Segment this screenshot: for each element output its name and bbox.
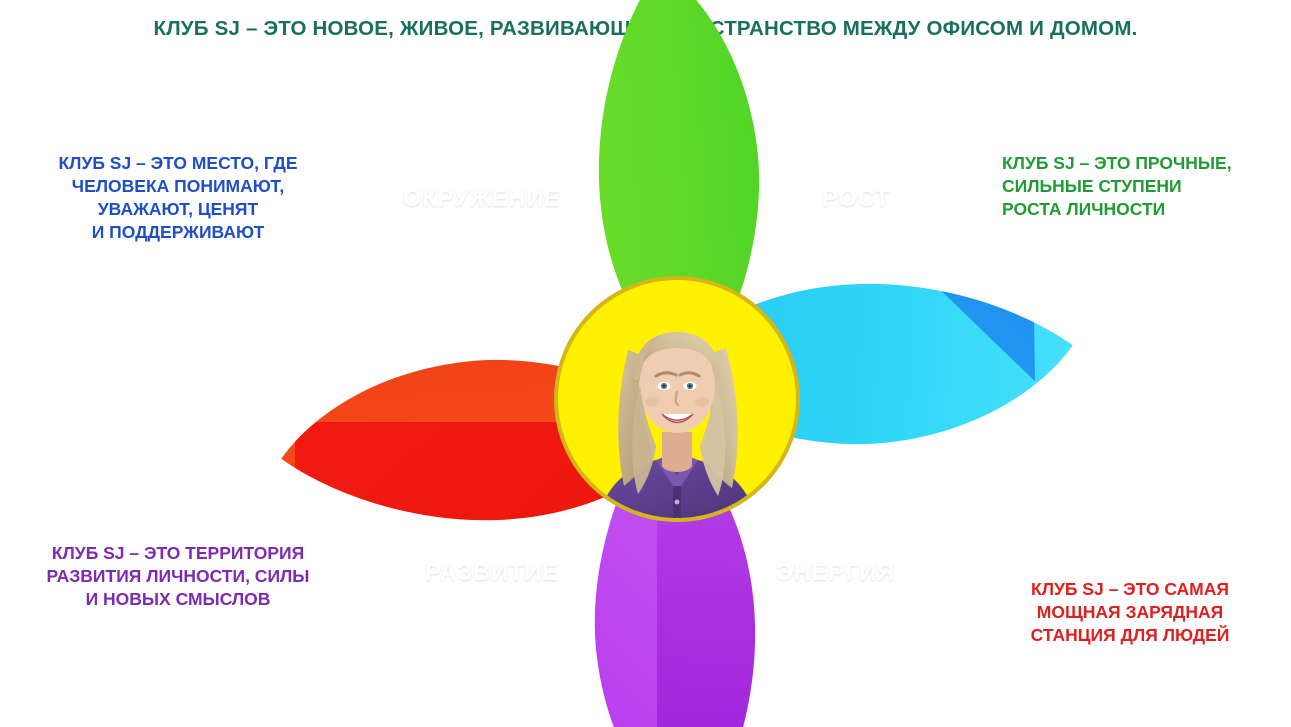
note-development: КЛУБ SJ – ЭТО ТЕРРИТОРИЯ РАЗВИТИЯ ЛИЧНОС… <box>18 542 338 611</box>
portrait-photo <box>584 280 770 522</box>
note-energy: КЛУБ SJ – ЭТО САМАЯ МОЩНАЯ ЗАРЯДНАЯ СТАН… <box>980 578 1280 647</box>
center-medallion <box>554 276 800 522</box>
note-environment-line: КЛУБ SJ – ЭТО МЕСТО, ГДЕ <box>18 152 338 175</box>
note-development-line: РАЗВИТИЯ ЛИЧНОСТИ, СИЛЫ <box>18 565 338 588</box>
note-energy-line: КЛУБ SJ – ЭТО САМАЯ <box>980 578 1280 601</box>
note-environment: КЛУБ SJ – ЭТО МЕСТО, ГДЕ ЧЕЛОВЕКА ПОНИМА… <box>18 152 338 244</box>
note-environment-line: УВАЖАЮТ, ЦЕНЯТ <box>18 198 338 221</box>
note-development-line: КЛУБ SJ – ЭТО ТЕРРИТОРИЯ <box>18 542 338 565</box>
note-energy-line: МОЩНАЯ ЗАРЯДНАЯ <box>980 601 1280 624</box>
note-environment-line: ЧЕЛОВЕКА ПОНИМАЮТ, <box>18 175 338 198</box>
note-development-line: И НОВЫХ СМЫСЛОВ <box>18 588 338 611</box>
note-environment-line: И ПОДДЕРЖИВАЮТ <box>18 221 338 244</box>
note-energy-line: СТАНЦИЯ ДЛЯ ЛЮДЕЙ <box>980 624 1280 647</box>
note-growth: КЛУБ SJ – ЭТО ПРОЧНЫЕ, СИЛЬНЫЕ СТУПЕНИ Р… <box>1002 152 1282 221</box>
note-growth-line: РОСТА ЛИЧНОСТИ <box>1002 198 1282 221</box>
note-growth-line: КЛУБ SJ – ЭТО ПРОЧНЫЕ, <box>1002 152 1282 175</box>
note-growth-line: СИЛЬНЫЕ СТУПЕНИ <box>1002 175 1282 198</box>
